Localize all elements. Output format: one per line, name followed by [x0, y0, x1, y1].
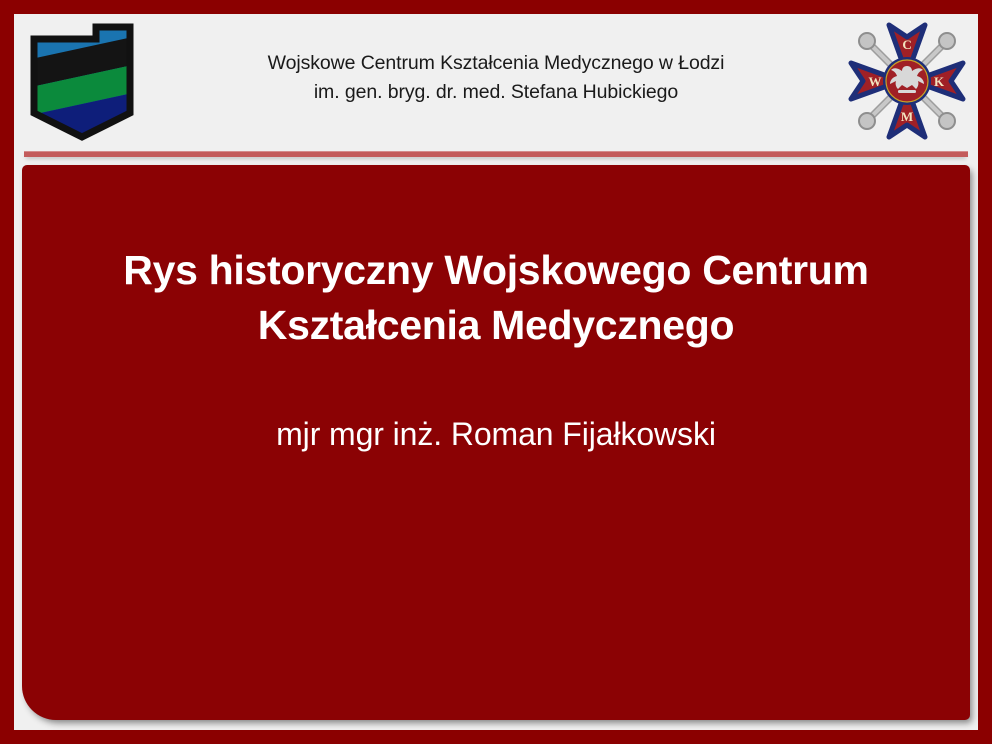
wckm-shield-logo — [22, 17, 142, 142]
slide-content-panel: Rys historyczny Wojskowego Centrum Kszta… — [22, 165, 970, 720]
header-divider — [24, 151, 968, 157]
slide-header: Wojskowe Centrum Kształcenia Medycznego … — [14, 14, 978, 145]
institution-title: Wojskowe Centrum Kształcenia Medycznego … — [268, 49, 725, 110]
slide-author: mjr mgr inż. Roman Fijałkowski — [80, 414, 912, 456]
badge-letter-c: C — [902, 37, 911, 52]
institution-title-line-2: im. gen. bryg. dr. med. Stefana Hubickie… — [268, 78, 725, 106]
badge-letter-m: M — [901, 109, 913, 124]
slide-canvas: Wojskowe Centrum Kształcenia Medycznego … — [14, 14, 978, 730]
badge-letter-k: K — [934, 74, 945, 89]
slide-title: Rys historyczny Wojskowego Centrum Kszta… — [80, 243, 912, 352]
slide-title-line-1: Rys historyczny Wojskowego Centrum — [80, 243, 912, 298]
wckm-cross-badge: C W K M — [846, 20, 968, 142]
slide-title-line-2: Kształcenia Medycznego — [80, 298, 912, 353]
badge-letter-w: W — [869, 74, 882, 89]
institution-title-line-1: Wojskowe Centrum Kształcenia Medycznego … — [268, 49, 725, 77]
presentation-slide: Wojskowe Centrum Kształcenia Medycznego … — [0, 0, 992, 744]
